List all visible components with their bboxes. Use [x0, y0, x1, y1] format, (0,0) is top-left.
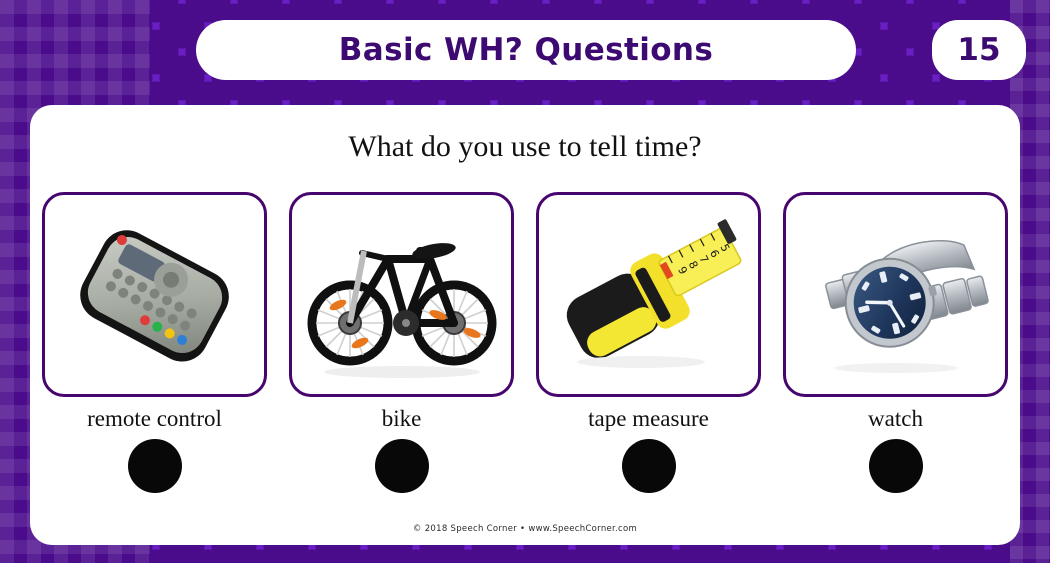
- choice-label: remote control: [87, 406, 222, 431]
- flashcard-page: Basic WH? Questions 15 What do you use t…: [0, 0, 1050, 563]
- bicycle-icon: [302, 207, 502, 382]
- answer-dot[interactable]: [869, 439, 923, 493]
- choice-label: tape measure: [588, 406, 709, 431]
- wristwatch-icon: [796, 205, 996, 385]
- card-number-badge: 15: [932, 20, 1026, 80]
- choice-bike[interactable]: bike: [285, 192, 518, 493]
- remote-control-icon: [50, 200, 260, 390]
- choice-watch[interactable]: watch: [779, 192, 1012, 493]
- choice-label: bike: [382, 406, 422, 431]
- page-title: Basic WH? Questions: [339, 32, 713, 68]
- answer-dot[interactable]: [375, 439, 429, 493]
- answer-dot[interactable]: [622, 439, 676, 493]
- choice-image-frame[interactable]: [42, 192, 267, 397]
- card-number: 15: [957, 32, 1000, 68]
- choice-label: watch: [868, 406, 923, 431]
- choice-image-frame[interactable]: [289, 192, 514, 397]
- tape-measure-icon: 98 76 5: [546, 202, 751, 387]
- question-text: What do you use to tell time?: [30, 130, 1020, 164]
- answer-dot[interactable]: [128, 439, 182, 493]
- content-card: What do you use to tell time?: [30, 105, 1020, 545]
- choice-image-frame[interactable]: [783, 192, 1008, 397]
- choice-remote-control[interactable]: remote control: [38, 192, 271, 493]
- choice-row: remote control: [38, 192, 1012, 493]
- title-banner: Basic WH? Questions: [196, 20, 856, 80]
- choice-tape-measure[interactable]: 98 76 5: [532, 192, 765, 493]
- choice-image-frame[interactable]: 98 76 5: [536, 192, 761, 397]
- copyright-footer: © 2018 Speech Corner • www.SpeechCorner.…: [30, 524, 1020, 534]
